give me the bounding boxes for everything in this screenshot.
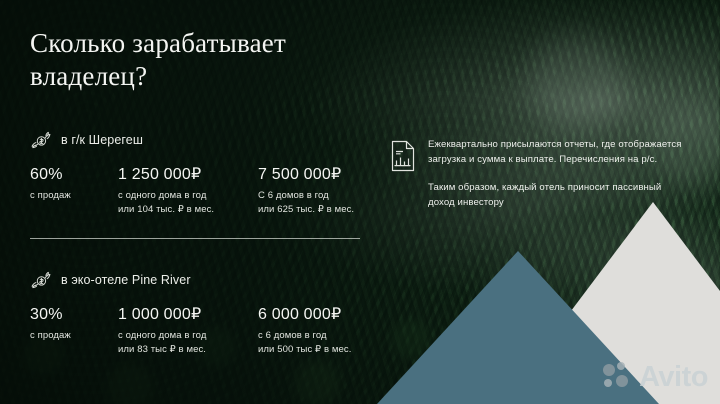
info-panel: Ежеквартально присылаются отчеты, где от…	[390, 138, 690, 210]
metric-caption: с продаж	[30, 329, 118, 343]
slide-content: Сколько зарабатывает владелец? в г/к Шер…	[0, 0, 720, 404]
metric-value: 6 000 000₽	[258, 306, 351, 324]
metric-columns: 30% с продаж 1 000 000₽ с одного дома в …	[30, 306, 380, 357]
money-wings-icon	[30, 130, 52, 150]
metric-caption: с 6 домов в годили 500 тыс ₽ в мес.	[258, 329, 351, 357]
info-paragraph-2: Таким образом, каждый отель приносит пас…	[428, 181, 690, 211]
metric-column: 30% с продаж	[30, 306, 118, 357]
metric-column: 60% с продаж	[30, 166, 118, 217]
info-text: Ежеквартально присылаются отчеты, где от…	[428, 138, 690, 210]
metric-caption: С 6 домов в годили 625 тыс. ₽ в мес.	[258, 189, 354, 217]
metric-columns: 60% с продаж 1 250 000₽ с одного дома в …	[30, 166, 380, 217]
metric-column: 7 500 000₽ С 6 домов в годили 625 тыс. ₽…	[258, 166, 354, 217]
metric-column: 1 000 000₽ с одного дома в годили 83 тыс…	[118, 306, 258, 357]
metric-caption: с одного дома в годили 83 тыс ₽ в мес.	[118, 329, 258, 357]
money-wings-icon	[30, 270, 52, 290]
avito-watermark: Avito	[603, 362, 708, 392]
metric-value: 7 500 000₽	[258, 166, 354, 184]
block-header-label: в эко-отеле Pine River	[61, 273, 191, 287]
page-title: Сколько зарабатывает владелец?	[30, 27, 390, 93]
metric-value: 1 000 000₽	[118, 306, 258, 324]
block-header-label: в г/к Шерегеш	[61, 133, 143, 147]
metric-value: 30%	[30, 306, 118, 324]
metric-caption: с продаж	[30, 189, 118, 203]
document-chart-icon	[390, 140, 416, 172]
earnings-block-sheregesh: в г/к Шерегеш 60% с продаж 1 250 000₽ с …	[30, 130, 380, 217]
presentation-slide: Сколько зарабатывает владелец? в г/к Шер…	[0, 0, 720, 404]
metric-value: 60%	[30, 166, 118, 184]
info-paragraph-1: Ежеквартально присылаются отчеты, где от…	[428, 138, 690, 168]
metric-column: 1 250 000₽ с одного дома в годили 104 ты…	[118, 166, 258, 217]
block-header: в г/к Шерегеш	[30, 130, 380, 150]
avito-wordmark: Avito	[639, 363, 708, 392]
metric-value: 1 250 000₽	[118, 166, 258, 184]
metric-column: 6 000 000₽ с 6 домов в годили 500 тыс ₽ …	[258, 306, 351, 357]
metric-caption: с одного дома в годили 104 тыс. ₽ в мес.	[118, 189, 258, 217]
block-header: в эко-отеле Pine River	[30, 270, 380, 290]
earnings-block-pine-river: в эко-отеле Pine River 30% с продаж 1 00…	[30, 270, 380, 357]
section-divider	[30, 238, 360, 239]
avito-dots-logo-icon	[603, 362, 633, 392]
